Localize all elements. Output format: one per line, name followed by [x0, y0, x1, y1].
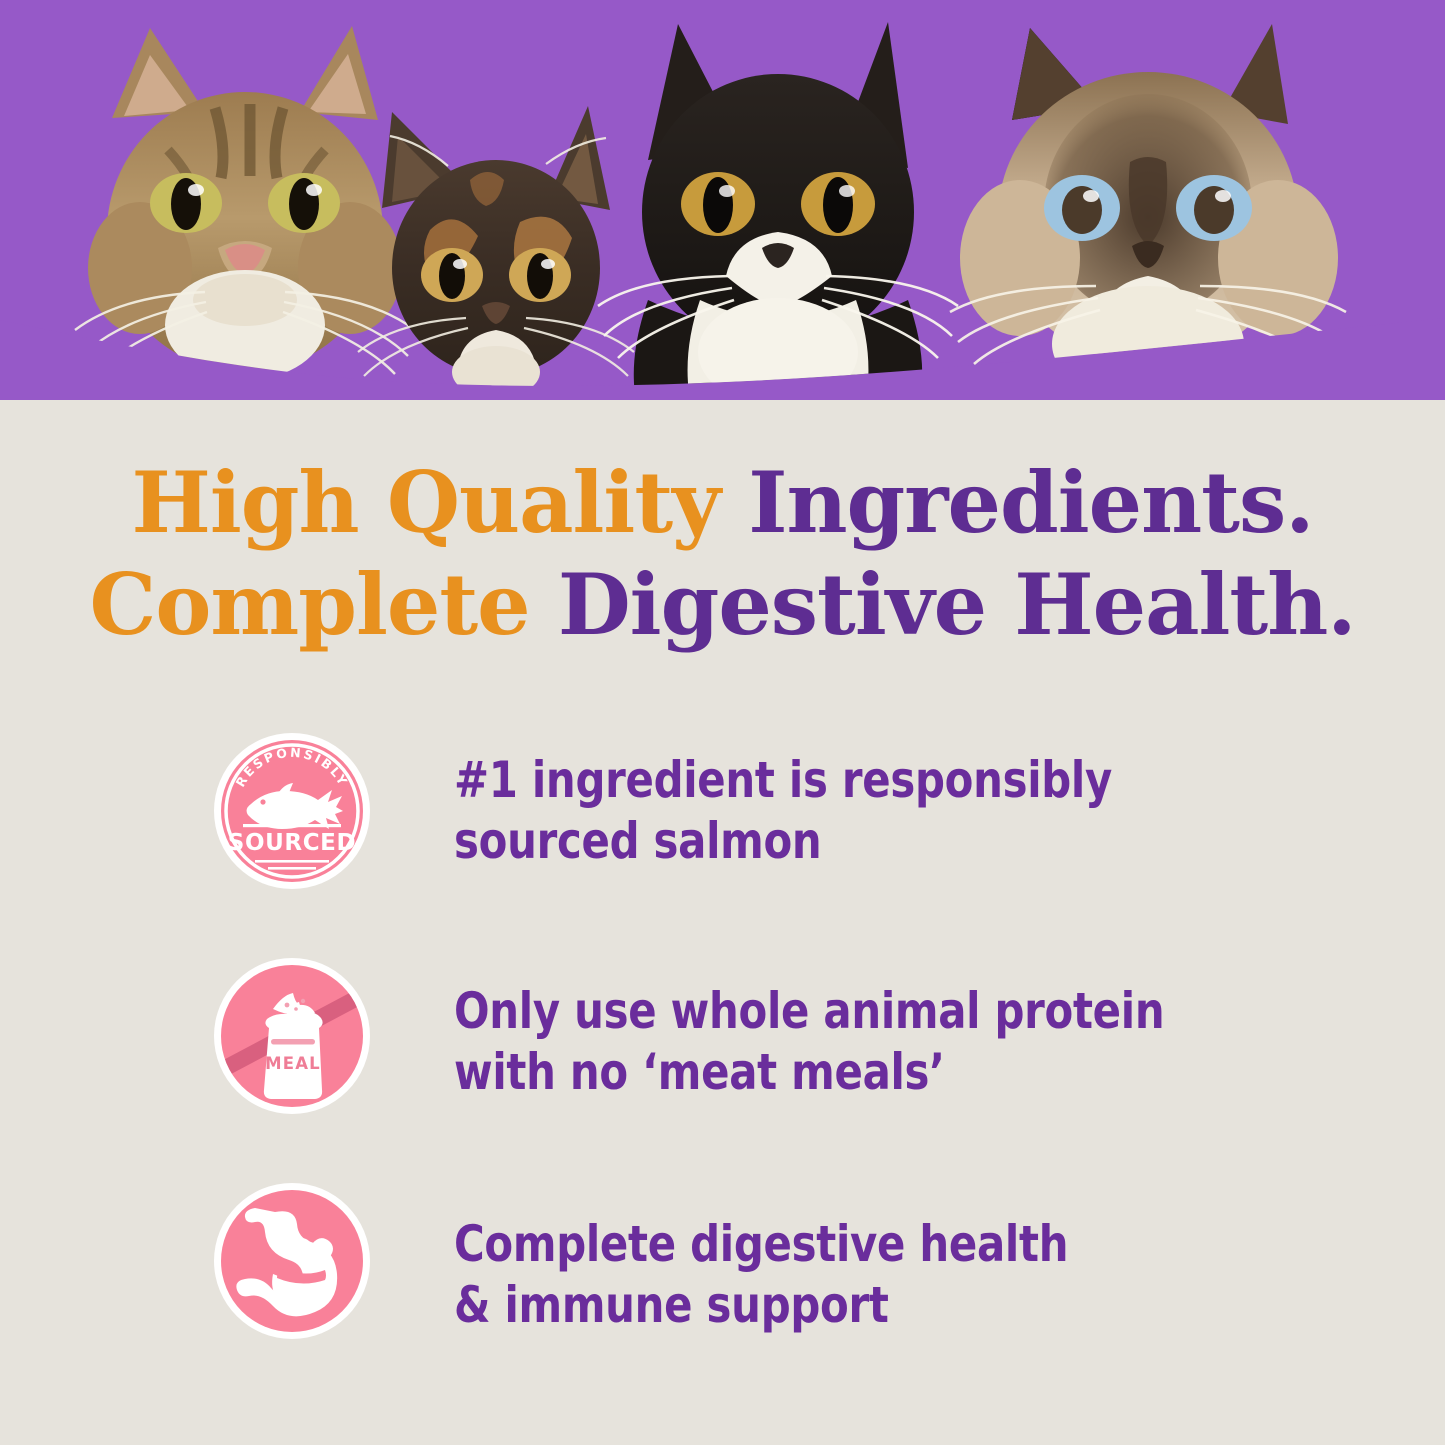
headline-line-2: Complete Digestive Health.	[0, 554, 1445, 656]
feature-bullet-item: Complete digestive health & immune suppo…	[0, 1172, 1445, 1397]
badge-main-text: SOURCED	[228, 830, 356, 856]
digestive-health-badge-graphic	[213, 1182, 371, 1340]
feature-bullet-text: Complete digestive health & immune suppo…	[454, 1214, 1226, 1335]
hero-illustration	[0, 0, 1445, 400]
bullet-3-line-2: & immune support	[454, 1275, 1226, 1336]
feature-bullet-text: #1 ingredient is responsibly sourced sal…	[454, 750, 1226, 871]
headline-line-1-purple: Ingredients.	[748, 453, 1313, 552]
headline-line-2-purple: Digestive Health.	[558, 555, 1356, 654]
stomach-heart-digestive-icon	[213, 1182, 371, 1340]
responsibly-sourced-fish-badge-icon: RESPONSIBLY SOURCED	[213, 732, 371, 890]
no-meat-meal-bag-icon: MEAL	[213, 957, 371, 1115]
bullet-1-line-2: sourced salmon	[454, 811, 1226, 872]
feature-bullet-item: MEAL Only use whole animal protein with …	[0, 947, 1445, 1172]
product-feature-panel: High Quality Ingredients. Complete Diges…	[0, 0, 1445, 1445]
bullet-2-line-2: with no ‘meat meals’	[454, 1042, 1226, 1103]
bullet-3-line-1: Complete digestive health	[454, 1214, 1226, 1275]
page-headline: High Quality Ingredients. Complete Diges…	[0, 452, 1445, 655]
headline-line-2-orange: Complete	[89, 555, 529, 654]
feature-bullet-item: RESPONSIBLY SOURCED	[0, 722, 1445, 947]
headline-line-1: High Quality Ingredients.	[0, 452, 1445, 554]
bullet-2-line-1: Only use whole animal protein	[454, 981, 1226, 1042]
meal-bag-label: MEAL	[265, 1054, 321, 1073]
bullet-1-line-1: #1 ingredient is responsibly	[454, 750, 1226, 811]
meal-bag-badge-graphic: MEAL	[213, 957, 371, 1115]
feature-bullet-text: Only use whole animal protein with no ‘m…	[454, 981, 1226, 1102]
headline-line-1-orange: High Quality	[132, 453, 720, 552]
responsibly-sourced-badge-graphic: RESPONSIBLY SOURCED	[213, 732, 371, 890]
feature-bullet-list: RESPONSIBLY SOURCED	[0, 722, 1445, 1397]
cat-photo-banner	[0, 0, 1445, 400]
